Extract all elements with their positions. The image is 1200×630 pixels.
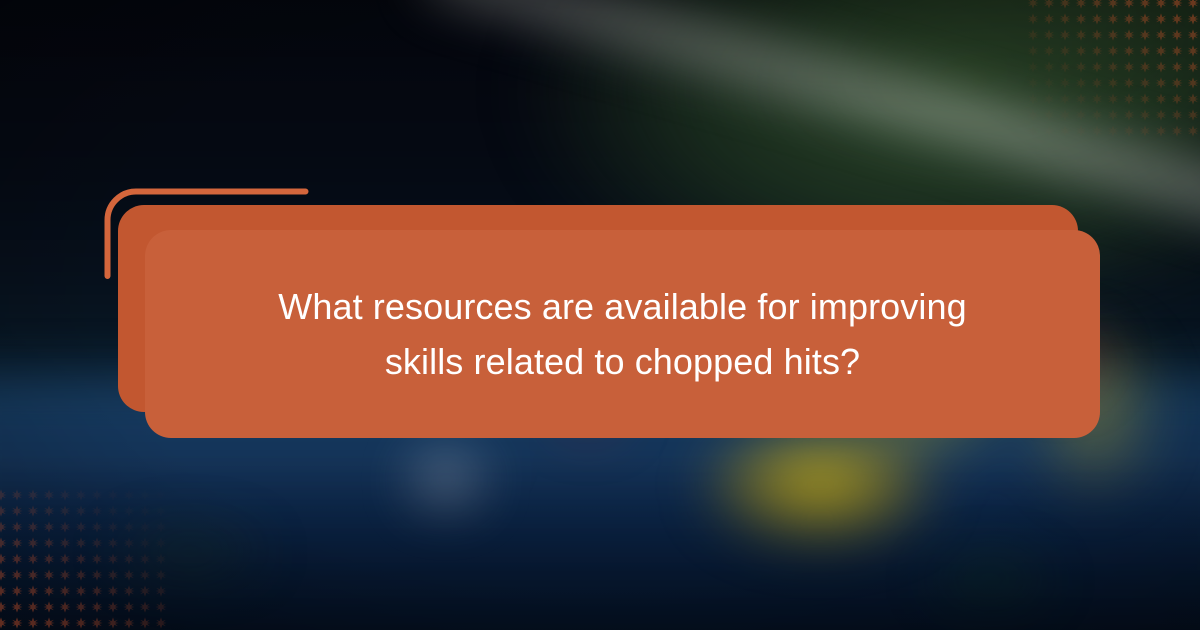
share-card-canvas: What resources are available for improvi… — [0, 0, 1200, 630]
question-card[interactable]: What resources are available for improvi… — [145, 230, 1100, 438]
question-text: What resources are available for improvi… — [219, 279, 1027, 389]
